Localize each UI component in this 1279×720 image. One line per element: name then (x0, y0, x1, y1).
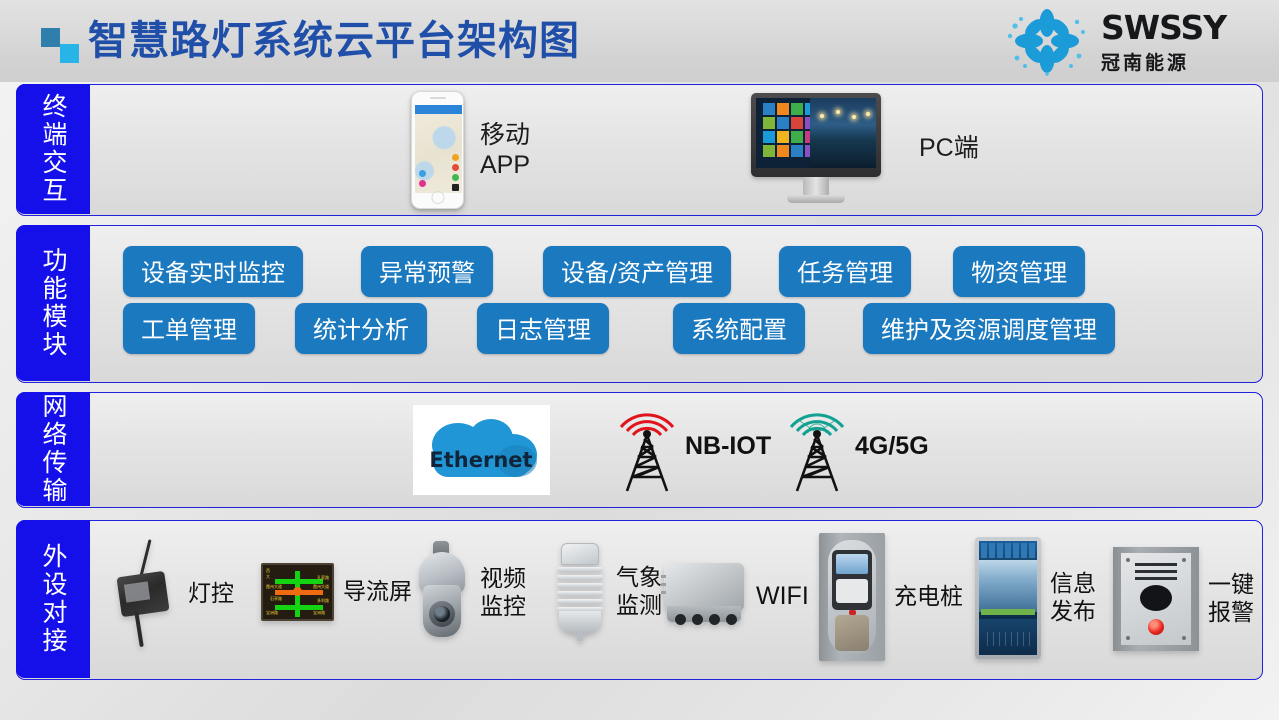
led-guidance-screen-icon: 西 大 孔家路 霞州大道 霞州大道 石亭路 多利路 宝洲路 宝洲路 (261, 563, 334, 621)
desktop-monitor-icon (751, 93, 881, 203)
water-droplet-flower-icon (999, 6, 1095, 76)
device-item-lamp-controller[interactable]: 灯控 (111, 539, 234, 649)
band-label-network: 网络传输 (16, 392, 90, 506)
fn-button-statistics[interactable]: 统计分析 (295, 303, 427, 354)
band-function-modules: 功能模块 设备实时监控 异常预警 设备/资产管理 任务管理 物资管理 工单管理 … (16, 225, 1263, 383)
terminal-label-pc: PC端 (919, 133, 979, 164)
terminal-label-mobile-app: 移动 APP (480, 120, 530, 181)
fn-button-asset-management[interactable]: 设备/资产管理 (543, 246, 731, 297)
device-item-emergency-call[interactable]: 一键 报警 (1113, 547, 1254, 651)
device-label-wifi: WIFI (756, 581, 809, 611)
fn-button-maintenance-dispatch[interactable]: 维护及资源调度管理 (863, 303, 1115, 354)
network-item-ethernet[interactable]: Ethernet (413, 405, 550, 495)
fn-button-log-management[interactable]: 日志管理 (477, 303, 609, 354)
band-label-device: 外设对接 (16, 520, 90, 678)
band-label-function: 功能模块 (16, 225, 90, 381)
terminal-item-pc[interactable]: PC端 (751, 93, 979, 203)
device-label-weather-station: 气象 监测 (616, 564, 662, 619)
svg-text:Ethernet: Ethernet (429, 448, 532, 472)
fn-button-material-management[interactable]: 物资管理 (953, 246, 1085, 297)
brand-logo: SWSSY 冠南能源 (999, 4, 1269, 78)
smartphone-icon (411, 91, 464, 209)
weather-station-icon (553, 543, 607, 641)
network-item-nbiot[interactable]: NB-IOT (611, 399, 771, 494)
two-squares-logo-icon (41, 28, 83, 62)
device-label-guidance-screen: 导流屏 (343, 578, 412, 606)
device-item-video-surveillance[interactable]: 视频 监控 (413, 541, 526, 645)
band-terminal-interaction: 终端交互 移动 (16, 84, 1263, 216)
device-item-info-display[interactable]: 信息 发布 (975, 537, 1096, 659)
band-device-integration: 外设对接 灯控 西 大 孔家路 霞州大道 霞州大道 (16, 520, 1263, 680)
page-title: 智慧路灯系统云平台架构图 (88, 8, 580, 66)
signal-tower-icon (611, 399, 683, 494)
function-row-2: 工单管理 统计分析 日志管理 系统配置 维护及资源调度管理 (91, 303, 1262, 354)
terminal-item-mobile-app[interactable]: 移动 APP (411, 91, 530, 209)
fn-button-device-monitor[interactable]: 设备实时监控 (123, 246, 303, 297)
network-item-4g5g[interactable]: 4G/5G (781, 399, 929, 494)
network-label-4g5g: 4G/5G (855, 432, 929, 461)
brand-name: SWSSY (1101, 8, 1226, 47)
band-label-terminal: 终端交互 (16, 84, 90, 214)
fn-button-abnormal-alert[interactable]: 异常预警 (361, 246, 493, 297)
charging-pile-icon (819, 533, 885, 661)
info-display-screen-icon (975, 537, 1041, 659)
device-label-lamp-controller: 灯控 (188, 580, 234, 608)
page-header: 智慧路灯系统云平台架构图 (0, 0, 1279, 82)
brand-subtitle: 冠南能源 (1101, 48, 1226, 75)
emergency-call-icon (1113, 547, 1199, 651)
device-label-emergency-call: 一键 报警 (1208, 571, 1254, 626)
function-row-1: 设备实时监控 异常预警 设备/资产管理 任务管理 物资管理 (91, 246, 1262, 297)
lamp-controller-icon (111, 539, 179, 649)
wifi-enclosure-icon (661, 563, 747, 629)
device-label-video-surveillance: 视频 监控 (480, 565, 526, 620)
network-label-nbiot: NB-IOT (685, 432, 771, 461)
ptz-camera-icon (413, 541, 471, 645)
device-item-weather-station[interactable]: 气象 监测 (553, 543, 662, 641)
band-network-transmission: 网络传输 Ethernet (16, 392, 1263, 508)
fn-button-work-order[interactable]: 工单管理 (123, 303, 255, 354)
device-item-guidance-screen[interactable]: 西 大 孔家路 霞州大道 霞州大道 石亭路 多利路 宝洲路 宝洲路 导流屏 (261, 563, 412, 621)
fn-button-task-management[interactable]: 任务管理 (779, 246, 911, 297)
fn-button-system-config[interactable]: 系统配置 (673, 303, 805, 354)
device-label-info-display: 信息 发布 (1050, 570, 1096, 625)
device-item-charging-pile[interactable]: 充电桩 (819, 533, 963, 661)
cloud-icon: Ethernet (413, 405, 550, 495)
device-item-wifi[interactable]: WIFI (661, 563, 809, 629)
device-label-charging-pile: 充电桩 (894, 583, 963, 611)
signal-tower-icon (781, 399, 853, 494)
